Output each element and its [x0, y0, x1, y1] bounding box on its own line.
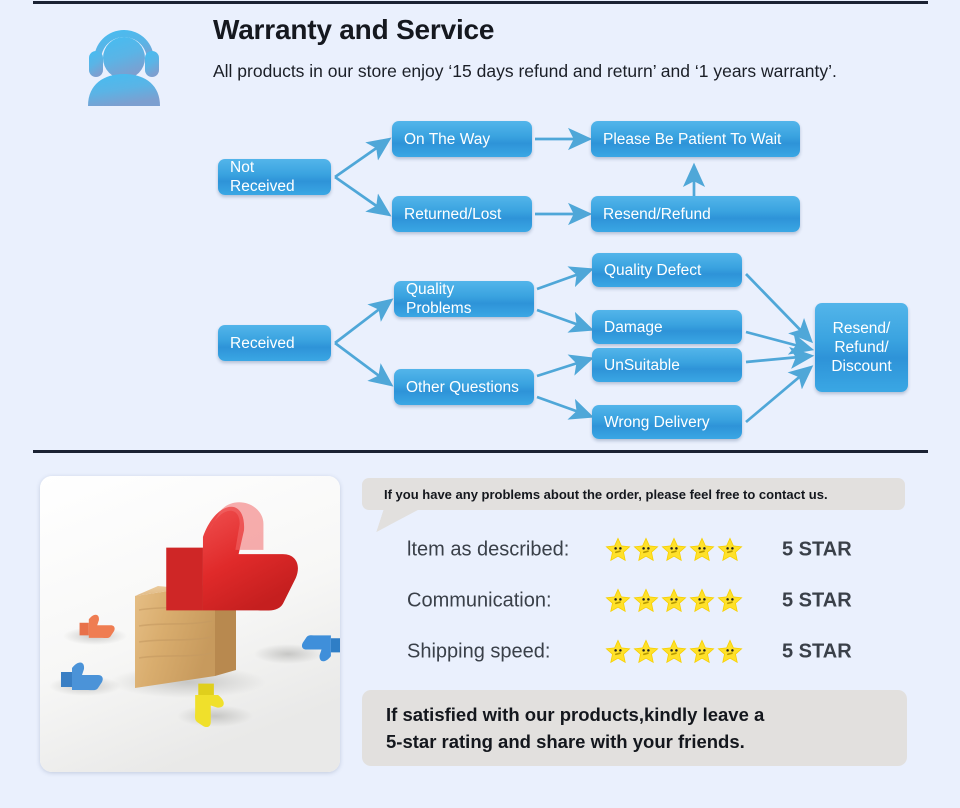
star-icon	[717, 537, 743, 563]
thumbs-up-photo	[40, 476, 340, 772]
star-icon	[689, 537, 715, 563]
rating-row: ltem as described: 5 STAR	[362, 524, 922, 575]
warranty-and-service-page: Warranty and Service All products in our…	[0, 0, 960, 808]
star-icon	[605, 588, 631, 614]
rating-stars	[605, 639, 743, 665]
star-icon	[633, 639, 659, 665]
flow-node-label: Quality Problems	[406, 280, 522, 318]
cta-line-1: If satisfied with our products,kindly le…	[386, 701, 907, 728]
flow-node-unsuitable[interactable]: UnSuitable	[592, 348, 742, 382]
star-icon	[605, 639, 631, 665]
flow-node-damage[interactable]: Damage	[592, 310, 742, 344]
flow-node-quality-problems[interactable]: Quality Problems	[394, 281, 534, 317]
star-icon	[661, 588, 687, 614]
rating-value: 5 STAR	[782, 589, 852, 612]
seller-ratings: ltem as described: 5 STAR Communication:…	[362, 524, 922, 677]
star-icon	[717, 639, 743, 665]
flow-node-quality-defect[interactable]: Quality Defect	[592, 253, 742, 287]
star-icon	[633, 537, 659, 563]
leave-rating-cta: If satisfied with our products,kindly le…	[362, 690, 907, 766]
flow-node-wrong-delivery[interactable]: Wrong Delivery	[592, 405, 742, 439]
flow-node-label: Wrong Delivery	[604, 413, 710, 432]
flow-node-resend-refund-discount[interactable]: Resend/ Refund/ Discount	[815, 303, 908, 392]
flow-node-label: Returned/Lost	[404, 205, 501, 224]
star-icon	[661, 639, 687, 665]
returns-flowchart: Not Received On The Way Please Be Patien…	[0, 110, 960, 440]
star-icon	[717, 588, 743, 614]
rating-stars	[605, 537, 743, 563]
flow-node-label: Resend/Refund	[603, 205, 711, 224]
divider-middle	[33, 450, 928, 453]
star-icon	[633, 588, 659, 614]
rating-label: Shipping speed:	[407, 640, 550, 663]
star-icon	[689, 588, 715, 614]
rating-value: 5 STAR	[782, 640, 852, 663]
flow-node-label: Other Questions	[406, 378, 519, 397]
flow-node-on-the-way[interactable]: On The Way	[392, 121, 532, 157]
rating-label: ltem as described:	[407, 538, 569, 561]
star-icon	[661, 537, 687, 563]
flow-node-returned-lost[interactable]: Returned/Lost	[392, 196, 532, 232]
star-icon	[605, 537, 631, 563]
flow-node-other-questions[interactable]: Other Questions	[394, 369, 534, 405]
flow-node-please-be-patient-to-wait[interactable]: Please Be Patient To Wait	[591, 121, 800, 157]
flow-node-received[interactable]: Received	[218, 325, 331, 361]
flow-node-resend-refund[interactable]: Resend/Refund	[591, 196, 800, 232]
flow-node-label: Quality Defect	[604, 261, 701, 280]
flow-node-label: UnSuitable	[604, 356, 680, 375]
flow-node-not-received[interactable]: Not Received	[218, 159, 331, 195]
cta-line-2: 5-star rating and share with your friend…	[386, 728, 907, 755]
star-icon	[689, 639, 715, 665]
flow-node-label: Resend/ Refund/ Discount	[831, 319, 891, 376]
contact-us-text: If you have any problems about the order…	[384, 487, 828, 502]
flow-node-label: Not Received	[230, 158, 319, 196]
divider-top	[33, 1, 928, 4]
rating-value: 5 STAR	[782, 538, 852, 561]
rating-stars	[605, 588, 743, 614]
rating-row: Communication: 5 STAR	[362, 575, 922, 626]
flow-node-label: Received	[230, 334, 295, 353]
flow-node-label: Damage	[604, 318, 663, 337]
flow-node-label: Please Be Patient To Wait	[603, 130, 781, 149]
contact-us-bubble: If you have any problems about the order…	[362, 478, 905, 510]
rating-row: Shipping speed: 5 STAR	[362, 626, 922, 677]
page-title: Warranty and Service	[213, 14, 494, 46]
headset-agent-icon	[78, 14, 170, 106]
page-subtitle: All products in our store enjoy ‘15 days…	[213, 58, 913, 84]
rating-label: Communication:	[407, 589, 552, 612]
flow-node-label: On The Way	[404, 130, 490, 149]
